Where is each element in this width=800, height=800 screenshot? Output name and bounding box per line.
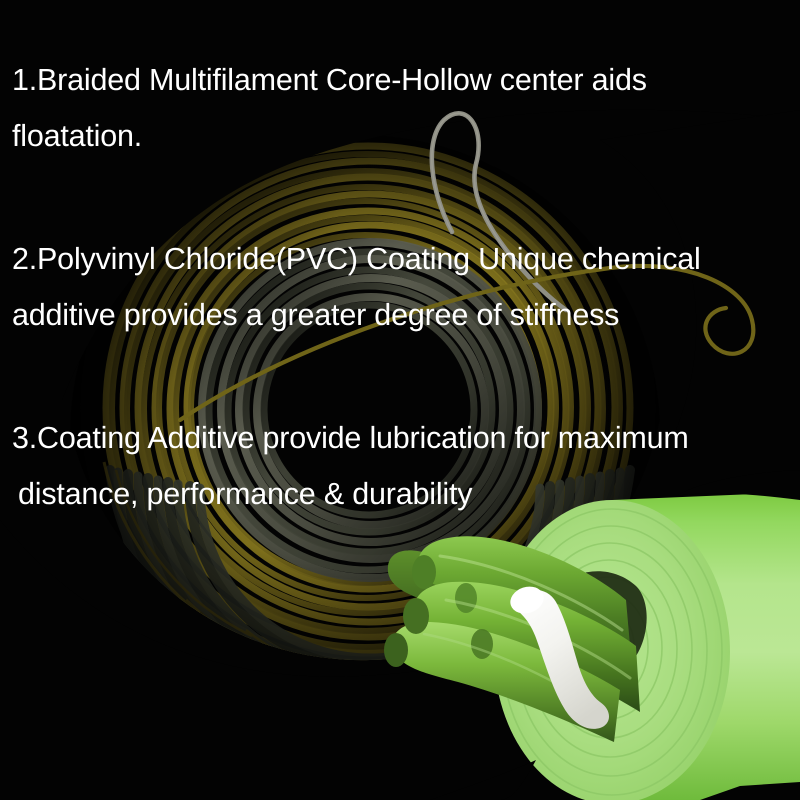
feature-2-line-2: additive provides a greater degree of st… <box>0 287 800 343</box>
feature-3-line-2: distance, performance & durability <box>0 466 800 522</box>
feature-paragraph-3: 3.Coating Additive provide lubrication f… <box>0 410 800 522</box>
coating-tube-end-4 <box>455 583 477 613</box>
feature-paragraph-1: 1.Braided Multifilament Core-Hollow cent… <box>0 52 800 164</box>
feature-3-line-1: 3.Coating Additive provide lubrication f… <box>0 410 800 466</box>
product-feature-image: 1.Braided Multifilament Core-Hollow cent… <box>0 0 800 800</box>
feature-1-line-2: floatation. <box>0 108 800 164</box>
coating-tube-end-5 <box>471 629 493 659</box>
feature-paragraph-2: 2.Polyvinyl Chloride(PVC) Coating Unique… <box>0 231 800 343</box>
feature-1-line-1: 1.Braided Multifilament Core-Hollow cent… <box>0 52 800 108</box>
coating-tube-end-3 <box>384 633 408 667</box>
coating-tube-end-1 <box>412 555 436 589</box>
feature-2-line-1: 2.Polyvinyl Chloride(PVC) Coating Unique… <box>0 231 800 287</box>
coating-tube-end-2 <box>403 598 429 634</box>
